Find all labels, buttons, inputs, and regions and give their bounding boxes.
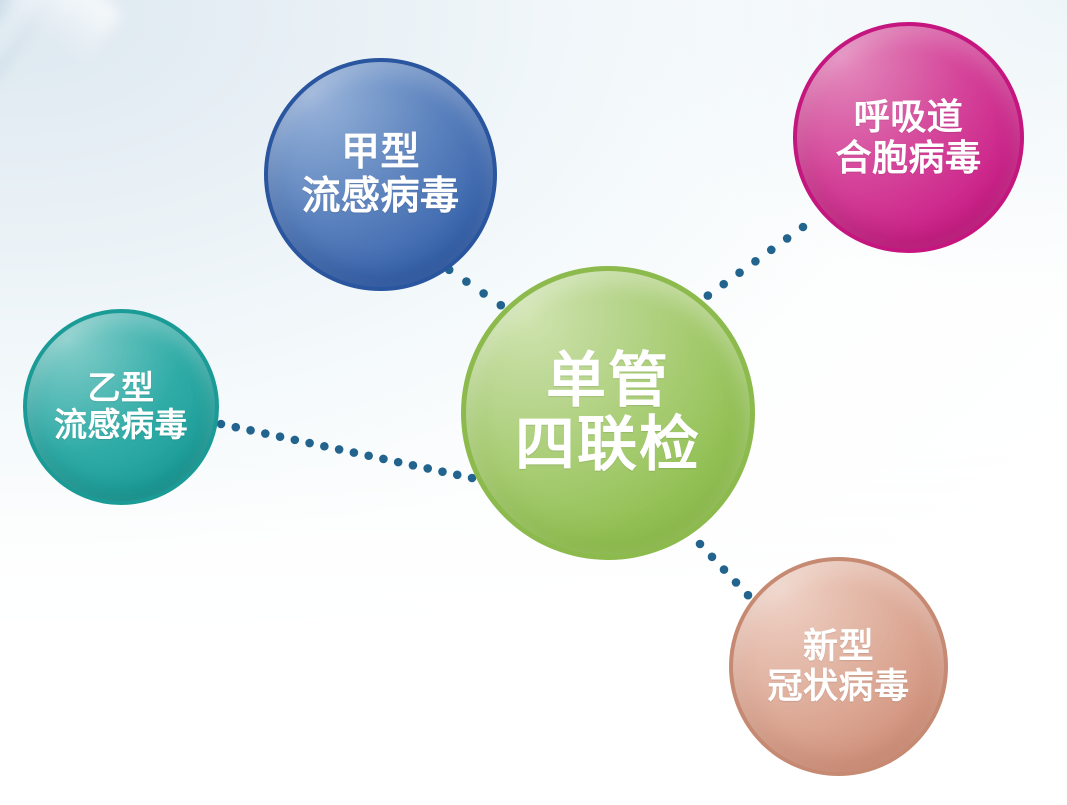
node-center-hub-label: 单管 四联检	[515, 349, 701, 477]
node-influenza-b-label: 乙型 流感病毒	[54, 370, 188, 444]
node-influenza-b-line-1: 乙型	[54, 370, 188, 407]
node-center-hub[interactable]: 单管 四联检	[461, 266, 755, 560]
node-rsv-line-2: 合胞病毒	[835, 138, 981, 178]
node-center-hub-line-1: 单管	[515, 349, 701, 413]
node-rsv-line-1: 呼吸道	[835, 97, 981, 137]
node-influenza-a-line-2: 流感病毒	[301, 175, 459, 219]
node-center-hub-line-2: 四联检	[515, 413, 701, 477]
node-rsv[interactable]: 呼吸道 合胞病毒	[793, 22, 1024, 253]
node-influenza-a-line-1: 甲型	[301, 131, 459, 175]
node-rsv-label: 呼吸道 合胞病毒	[835, 97, 981, 178]
diagram-canvas: 甲型 流感病毒 呼吸道 合胞病毒 乙型 流感病毒 新型 冠状病毒 单管 四联检	[0, 0, 1067, 805]
node-sars-cov-2[interactable]: 新型 冠状病毒	[729, 557, 948, 776]
node-sars-cov-2-label: 新型 冠状病毒	[767, 627, 909, 705]
node-influenza-b-line-2: 流感病毒	[54, 407, 188, 444]
node-influenza-a-label: 甲型 流感病毒	[301, 131, 459, 218]
node-sars-cov-2-line-2: 冠状病毒	[767, 667, 909, 706]
node-influenza-a[interactable]: 甲型 流感病毒	[264, 58, 497, 291]
node-sars-cov-2-line-1: 新型	[767, 627, 909, 666]
node-influenza-b[interactable]: 乙型 流感病毒	[23, 309, 219, 505]
